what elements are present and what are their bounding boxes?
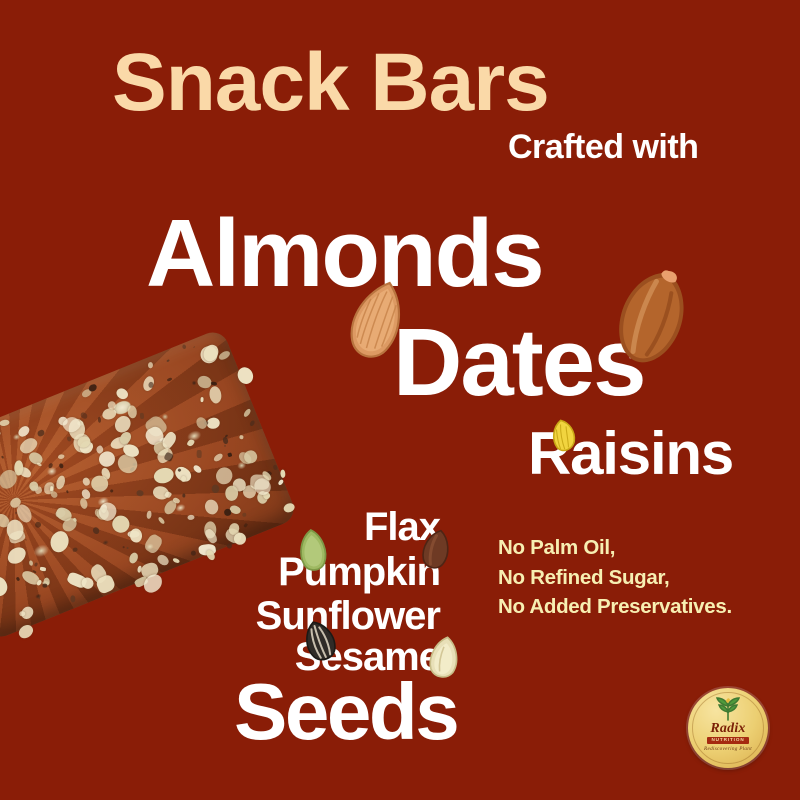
bar-speck (190, 549, 196, 556)
bar-speck (194, 416, 208, 431)
bar-speck (187, 514, 195, 520)
flax-seed-icon (418, 527, 454, 573)
bar-speck (213, 452, 225, 463)
bar-speck (0, 574, 10, 600)
bar-speck (16, 623, 35, 641)
bar-speck (98, 417, 102, 423)
bar-speck (122, 546, 125, 549)
product-claims: No Palm Oil, No Refined Sugar, No Added … (498, 533, 732, 622)
bar-speck (1, 456, 4, 459)
badge-ring (692, 692, 764, 764)
bar-speck (0, 426, 2, 439)
seed-pumpkin: Pumpkin (250, 553, 440, 591)
bar-speck (70, 595, 76, 602)
bar-speck (227, 543, 233, 549)
bar-speck (207, 384, 224, 404)
bar-speck (146, 511, 151, 519)
bar-speck (66, 490, 69, 493)
bar-speck (58, 463, 64, 469)
bar-speck (115, 387, 131, 402)
bar-speck (107, 400, 117, 410)
bar-speck (15, 576, 20, 581)
snack-bar-texture (0, 328, 298, 642)
bar-speck (203, 498, 220, 516)
bar-speck (280, 470, 287, 479)
claim-line: No Palm Oil, (498, 533, 732, 563)
bar-speck (37, 429, 46, 437)
bar-speck (0, 419, 11, 427)
bar-speck (157, 516, 165, 525)
date-fruit-icon (604, 262, 700, 372)
sunflower-seed-icon (300, 618, 340, 664)
bar-speck (111, 489, 115, 493)
page-title: Snack Bars (112, 42, 549, 124)
bar-speck (152, 466, 175, 485)
bar-speck (273, 464, 278, 470)
bar-speck (227, 452, 232, 457)
bar-speck (210, 483, 221, 494)
bar-speck (182, 494, 185, 498)
bar-speck (34, 521, 41, 528)
bar-speck (156, 553, 170, 567)
bar-speck (42, 583, 47, 588)
bar-speck (140, 413, 145, 419)
pumpkin-seed-icon (295, 527, 331, 575)
bar-speck (73, 548, 78, 553)
bar-speck (249, 420, 255, 427)
bar-speck (48, 462, 53, 468)
claim-line: No Refined Sugar, (498, 563, 732, 593)
bar-speck (7, 546, 27, 566)
bar-speck (224, 509, 232, 517)
bar-speck (192, 464, 203, 474)
bar-speck (137, 490, 145, 496)
bar-speck (25, 539, 28, 541)
bar-speck (29, 560, 34, 565)
raisin-icon (549, 418, 579, 454)
bar-speck (46, 528, 73, 555)
bar-speck (182, 344, 187, 350)
bar-speck (92, 526, 101, 535)
bar-speck (49, 491, 58, 500)
bar-speck (224, 445, 226, 447)
subtitle-crafted-with: Crafted with (508, 130, 698, 164)
bar-speck (148, 361, 154, 368)
bar-speck (55, 475, 67, 490)
almond-icon (334, 276, 420, 368)
bar-speck (36, 462, 42, 468)
seed-flax: Flax (250, 508, 440, 546)
bar-speck (34, 563, 38, 568)
bar-speck (243, 523, 248, 528)
bar-speck (66, 436, 71, 442)
claim-line: No Added Preservatives. (498, 592, 732, 622)
bar-speck (89, 384, 97, 391)
bar-speck (187, 438, 196, 447)
bar-speck (193, 346, 196, 348)
bar-speck (127, 547, 129, 549)
bar-speck (217, 349, 231, 361)
bar-speck (167, 377, 173, 382)
bar-speck (238, 435, 243, 440)
bar-speck (242, 408, 252, 418)
bar-speck (210, 381, 217, 386)
bar-speck (58, 454, 65, 461)
brand-logo-badge[interactable]: Radix NUTRITION Rediscovering Plant (688, 688, 768, 768)
bar-speck (148, 382, 154, 388)
bar-speck (167, 359, 170, 361)
sesame-seed-icon (425, 634, 463, 682)
bar-speck (16, 424, 31, 438)
bar-speck (236, 365, 255, 385)
bar-speck (38, 596, 42, 600)
bar-speck (196, 450, 201, 458)
bar-speck (128, 551, 139, 564)
seeds-heading: Seeds (234, 672, 457, 752)
snack-bar-photo (0, 328, 298, 642)
bar-speck (80, 412, 88, 420)
bar-speck (172, 557, 180, 564)
bar-speck (82, 476, 91, 486)
bar-speck (40, 566, 47, 570)
snack-bar-promo-poster: Snack Bars Crafted with Almonds Dates Ra… (0, 0, 800, 800)
bar-speck (278, 479, 285, 486)
bar-speck (201, 397, 204, 402)
bar-speck (143, 532, 164, 555)
bar-speck (242, 512, 247, 517)
bar-speck (130, 528, 143, 543)
